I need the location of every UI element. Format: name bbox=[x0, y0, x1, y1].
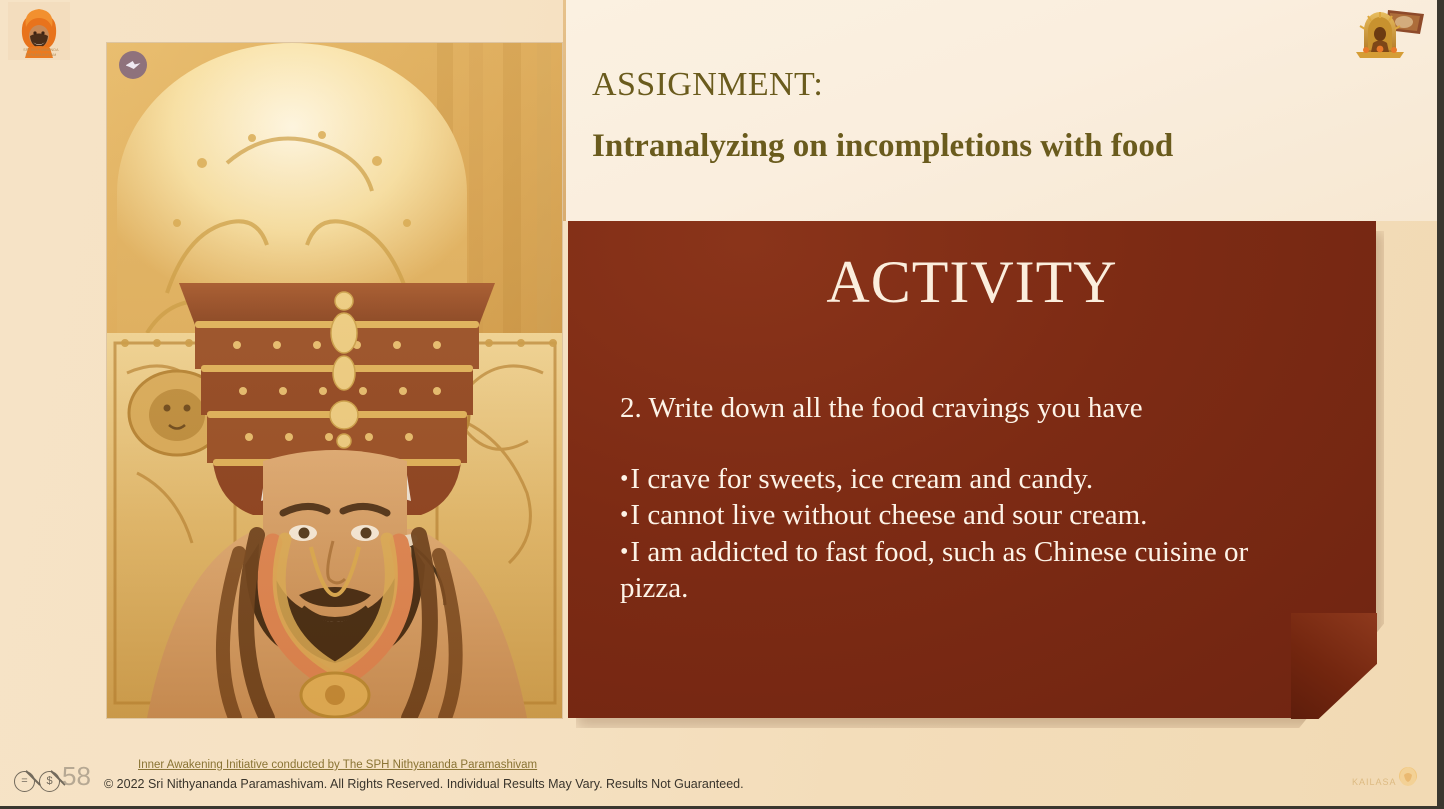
slide-footer: = $ 58 Inner Awakening Initiative conduc… bbox=[0, 757, 1444, 809]
footer-copyright: © 2022 Sri Nithyananda Paramashivam. All… bbox=[104, 777, 744, 791]
kailasa-watermark-logo: KAILASA bbox=[1352, 765, 1430, 795]
presentation-slide: ASSIGNMENT: Intranalyzing on incompletio… bbox=[0, 0, 1444, 809]
no-derivatives-icon: = bbox=[14, 771, 35, 792]
logo-caption: SRI NITHYANANDA PARAMASHIVAM bbox=[12, 48, 70, 58]
page-number: 58 bbox=[62, 761, 91, 792]
no-commercial-icon: $ bbox=[39, 771, 60, 792]
activity-card-folded-corner bbox=[1291, 613, 1377, 719]
activity-heading: ACTIVITY bbox=[568, 248, 1376, 317]
list-item: I am addicted to fast food, such as Chin… bbox=[620, 534, 1320, 607]
right-edge-strip bbox=[1437, 0, 1444, 809]
list-item: I crave for sweets, ice cream and candy. bbox=[620, 461, 1320, 498]
header-panel bbox=[566, 0, 1444, 221]
kailasa-deity-emblem-logo bbox=[1340, 4, 1426, 58]
craving-list: I crave for sweets, ice cream and candy.… bbox=[620, 461, 1320, 607]
kailasa-watermark-text: KAILASA bbox=[1352, 777, 1397, 787]
footer-initiative-link[interactable]: Inner Awakening Initiative conducted by … bbox=[138, 759, 537, 771]
guru-portrait-photo bbox=[107, 43, 562, 718]
assignment-label: ASSIGNMENT: bbox=[592, 66, 823, 104]
bird-watermark-icon bbox=[119, 51, 147, 79]
creative-commons-icons: = $ bbox=[14, 771, 60, 792]
list-item: I cannot live without cheese and sour cr… bbox=[620, 497, 1320, 534]
guru-portrait-logo: SRI NITHYANANDA PARAMASHIVAM bbox=[8, 2, 70, 60]
activity-body: 2. Write down all the food cravings you … bbox=[620, 390, 1320, 607]
assignment-title: Intranalyzing on incompletions with food bbox=[592, 128, 1173, 165]
activity-prompt: 2. Write down all the food cravings you … bbox=[620, 390, 1320, 427]
